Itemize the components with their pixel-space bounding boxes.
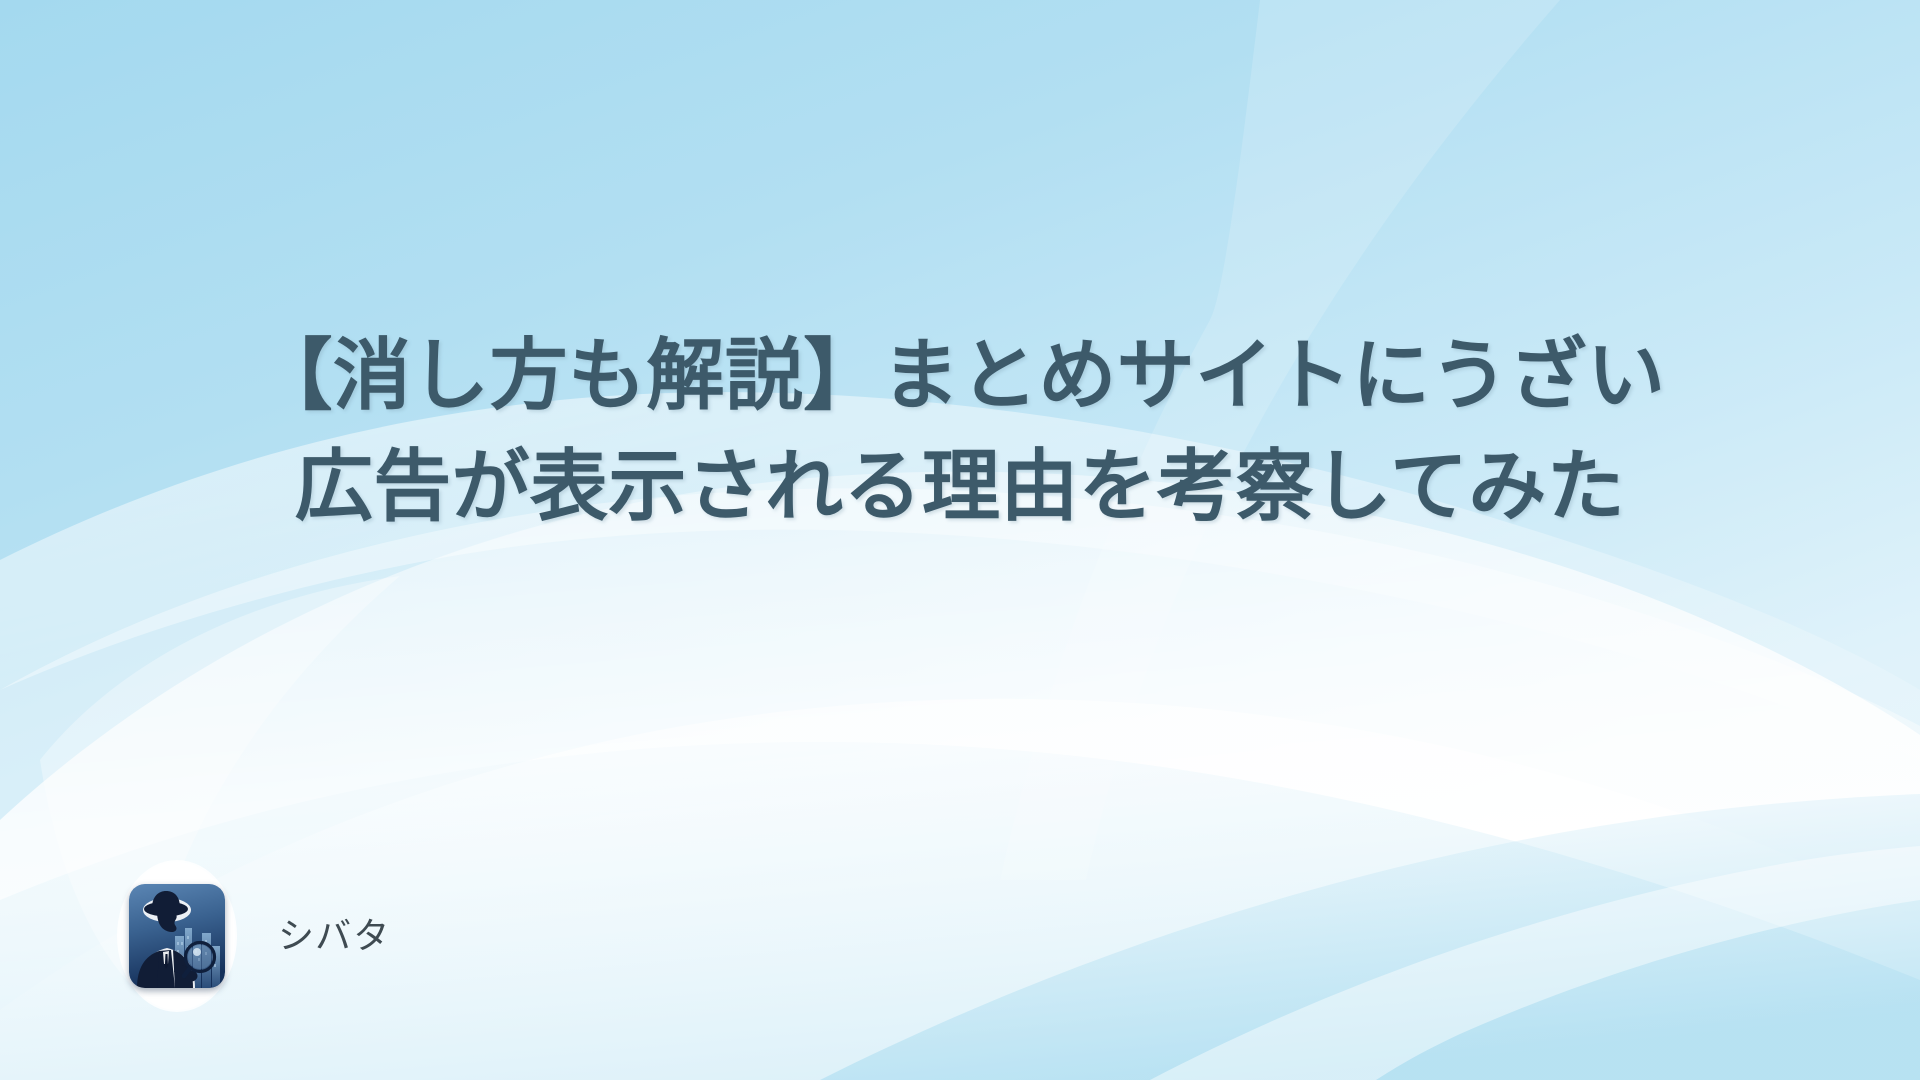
author-name: シバタ: [278, 918, 391, 954]
avatar-artwork: [129, 884, 225, 988]
title-line-2: 広告が表示される理由を考察してみた: [140, 431, 1780, 542]
avatar: [118, 862, 236, 1010]
author-block: シバタ: [118, 862, 391, 1010]
title-line-1: 【消し方も解説】まとめサイトにうざい: [140, 320, 1780, 431]
detective-magnifier-avatar-icon: [129, 884, 225, 988]
thumbnail-card: 【消し方も解説】まとめサイトにうざい 広告が表示される理由を考察してみた: [0, 0, 1920, 1080]
card-title: 【消し方も解説】まとめサイトにうざい 広告が表示される理由を考察してみた: [0, 320, 1920, 542]
